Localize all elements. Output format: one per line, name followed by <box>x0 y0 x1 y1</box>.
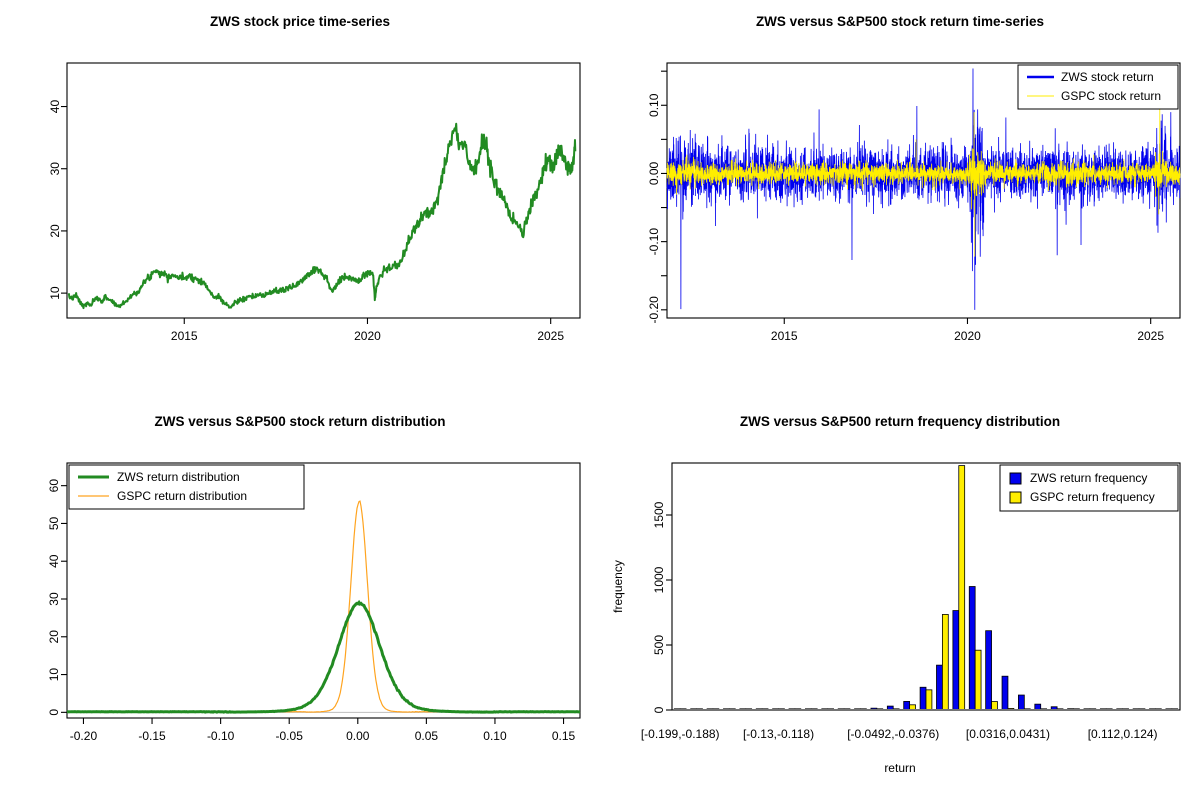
figure-grid: ZWS stock price time-series2015202020251… <box>0 0 1200 800</box>
y-tick-label: 500 <box>652 635 666 655</box>
legend-swatch-0 <box>1010 473 1021 484</box>
legend-label-0: ZWS return frequency <box>1030 471 1147 485</box>
y-tick-label: 0 <box>652 706 666 713</box>
panel-title: ZWS versus S&P500 stock return time-seri… <box>756 14 1044 29</box>
y-tick-label: 40 <box>48 100 62 114</box>
y-tick-label: 60 <box>47 479 61 493</box>
x-tick-label: 2020 <box>354 329 381 343</box>
y-tick-label: 10 <box>47 668 61 682</box>
x-tick-label: 2020 <box>954 329 981 343</box>
x-tick-label: 0.00 <box>346 729 370 743</box>
y-axis-label: frequency <box>611 560 625 613</box>
x-tick-label: 2025 <box>537 329 564 343</box>
panel-density: ZWS versus S&P500 stock return distribut… <box>0 400 600 800</box>
legend-label-0: ZWS stock return <box>1061 70 1154 84</box>
y-tick-label: 0.00 <box>647 161 661 185</box>
x-axis-label: return <box>884 761 915 775</box>
y-tick-label: 20 <box>48 224 62 238</box>
plot-canvas: ZWS versus S&P500 return frequency distr… <box>600 400 1200 800</box>
x-tick-label: [0.112,0.124) <box>1088 727 1158 741</box>
table-row <box>926 690 932 710</box>
panel-price: ZWS stock price time-series2015202020251… <box>0 0 600 400</box>
table-row <box>887 706 893 710</box>
table-row <box>1002 676 1008 710</box>
y-tick-label: 0 <box>47 709 61 716</box>
y-tick-label: 10 <box>48 286 62 300</box>
panel-histogram: ZWS versus S&P500 return frequency distr… <box>600 400 1200 800</box>
x-tick-label: -0.20 <box>70 729 98 743</box>
panel-title: ZWS versus S&P500 return frequency distr… <box>740 414 1060 429</box>
table-row <box>936 665 942 710</box>
y-tick-label: 30 <box>47 592 61 606</box>
y-tick-label: 30 <box>48 162 62 176</box>
table-row <box>920 687 926 710</box>
x-tick-label: 0.05 <box>415 729 439 743</box>
table-row <box>942 614 948 710</box>
x-tick-label: 0.15 <box>552 729 576 743</box>
x-tick-label: [-0.13,-0.118) <box>743 727 814 741</box>
plot-canvas: ZWS versus S&P500 stock return time-seri… <box>600 0 1200 400</box>
legend-swatch-1 <box>1010 492 1021 503</box>
table-row <box>953 611 959 710</box>
x-tick-label: [-0.0492,-0.0376) <box>847 727 939 741</box>
panel-title: ZWS stock price time-series <box>210 14 390 29</box>
table-row <box>910 705 916 710</box>
legend-label-1: GSPC return distribution <box>117 489 247 503</box>
y-tick-label: -0.20 <box>647 296 661 324</box>
x-tick-label: 2015 <box>771 329 798 343</box>
x-tick-label: -0.10 <box>207 729 235 743</box>
x-tick-label: 0.10 <box>483 729 507 743</box>
table-row <box>975 650 981 710</box>
legend-label-0: ZWS return distribution <box>117 470 240 484</box>
table-row <box>1018 695 1024 710</box>
plot-canvas: ZWS versus S&P500 stock return distribut… <box>0 400 600 800</box>
panel-title: ZWS versus S&P500 stock return distribut… <box>154 414 445 429</box>
x-tick-label: 2025 <box>1137 329 1164 343</box>
y-tick-label: 1500 <box>652 501 666 528</box>
legend-label-1: GSPC return frequency <box>1030 490 1155 504</box>
x-tick-label: 2015 <box>171 329 198 343</box>
x-tick-label: [-0.199,-0.188) <box>641 727 720 741</box>
y-tick-label: 20 <box>47 630 61 644</box>
y-tick-label: 40 <box>47 554 61 568</box>
y-tick-label: 0.10 <box>647 93 661 117</box>
table-row <box>904 701 910 710</box>
y-tick-label: 50 <box>47 516 61 530</box>
table-row <box>986 631 992 710</box>
legend: ZWS return distributionGSPC return distr… <box>69 465 304 509</box>
panel-returns: ZWS versus S&P500 stock return time-seri… <box>600 0 1200 400</box>
x-tick-label: [0.0316,0.0431) <box>966 727 1050 741</box>
gspc-density-line <box>67 501 580 712</box>
legend: ZWS stock returnGSPC stock return <box>1018 65 1178 109</box>
zws-density-line <box>67 603 580 713</box>
legend-label-1: GSPC stock return <box>1061 89 1161 103</box>
legend: ZWS return frequencyGSPC return frequenc… <box>1000 465 1178 511</box>
price-line <box>69 124 575 308</box>
table-row <box>1035 704 1041 710</box>
table-row <box>959 466 965 710</box>
table-row <box>992 702 998 710</box>
plot-canvas: ZWS stock price time-series2015202020251… <box>0 0 600 400</box>
x-tick-label: -0.05 <box>276 729 304 743</box>
y-tick-label: 1000 <box>652 566 666 593</box>
x-tick-label: -0.15 <box>138 729 166 743</box>
y-tick-label: -0.10 <box>647 228 661 256</box>
table-row <box>969 587 975 711</box>
